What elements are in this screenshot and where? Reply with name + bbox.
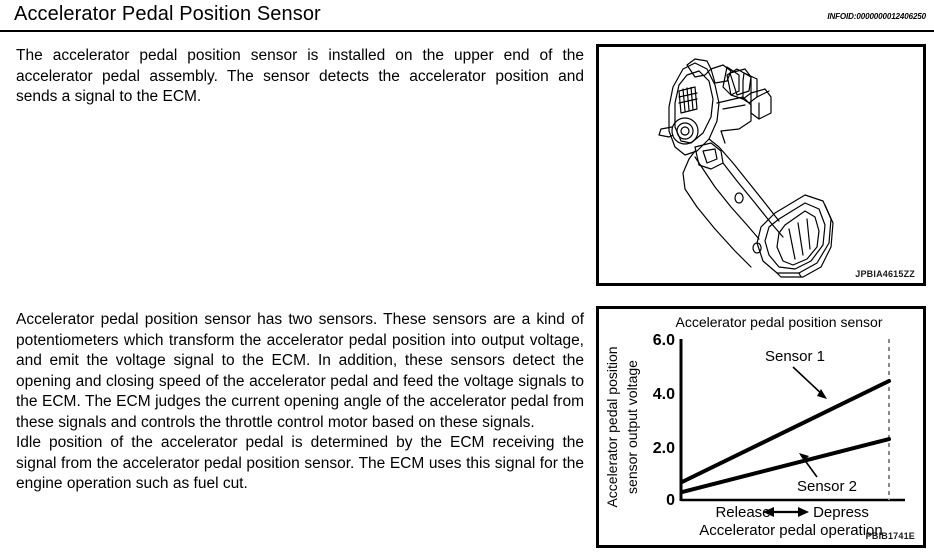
chart-title: Accelerator pedal position sensor — [675, 314, 882, 330]
chart-annotation-sensor-1: Sensor 1 — [765, 348, 825, 365]
infoid-label: INFOID:0000000012406250 — [827, 12, 926, 21]
sensor-output-voltage-chart: Accelerator pedal position sensor Accele… — [599, 309, 923, 545]
chart-ytick-4: 4.0 — [653, 386, 675, 403]
chart-ylabel-line1: Accelerator pedal position — [604, 346, 620, 507]
chart-ytick-6: 6.0 — [653, 332, 675, 349]
figure-graph-caption: PBIB1741E — [866, 531, 915, 541]
chart-ytick-2: 2.0 — [653, 440, 675, 457]
figure-pedal-caption: JPBIA4615ZZ — [855, 269, 915, 279]
accelerator-pedal-illustration — [599, 47, 923, 283]
intro-paragraph-text: The accelerator pedal position sensor is… — [16, 46, 584, 108]
header-divider — [0, 30, 934, 32]
chart-annotation-sensor-2: Sensor 2 — [797, 478, 857, 495]
chart-xaxis-release-label: Release — [715, 504, 770, 521]
chart-ytick-0: 0 — [666, 492, 675, 509]
detail-paragraph-block: Accelerator pedal position sensor has tw… — [16, 310, 584, 495]
figure-sensor-graph: Accelerator pedal position sensor Accele… — [596, 306, 926, 548]
intro-paragraph: The accelerator pedal position sensor is… — [16, 46, 584, 108]
chart-leader-arrow-sensor-1 — [793, 367, 827, 399]
chart-ylabel-line2: sensor output voltage — [624, 360, 640, 494]
chart-xlabel: Accelerator pedal operation — [699, 522, 882, 539]
detail-paragraph-one: Accelerator pedal position sensor has tw… — [16, 310, 584, 433]
figure-pedal-assembly: JPBIA4615ZZ — [596, 44, 926, 286]
page-title: Accelerator Pedal Position Sensor — [14, 3, 321, 26]
detail-paragraph-two: Idle position of the accelerator pedal i… — [16, 433, 584, 495]
chart-xaxis-depress-label: Depress — [813, 504, 869, 521]
